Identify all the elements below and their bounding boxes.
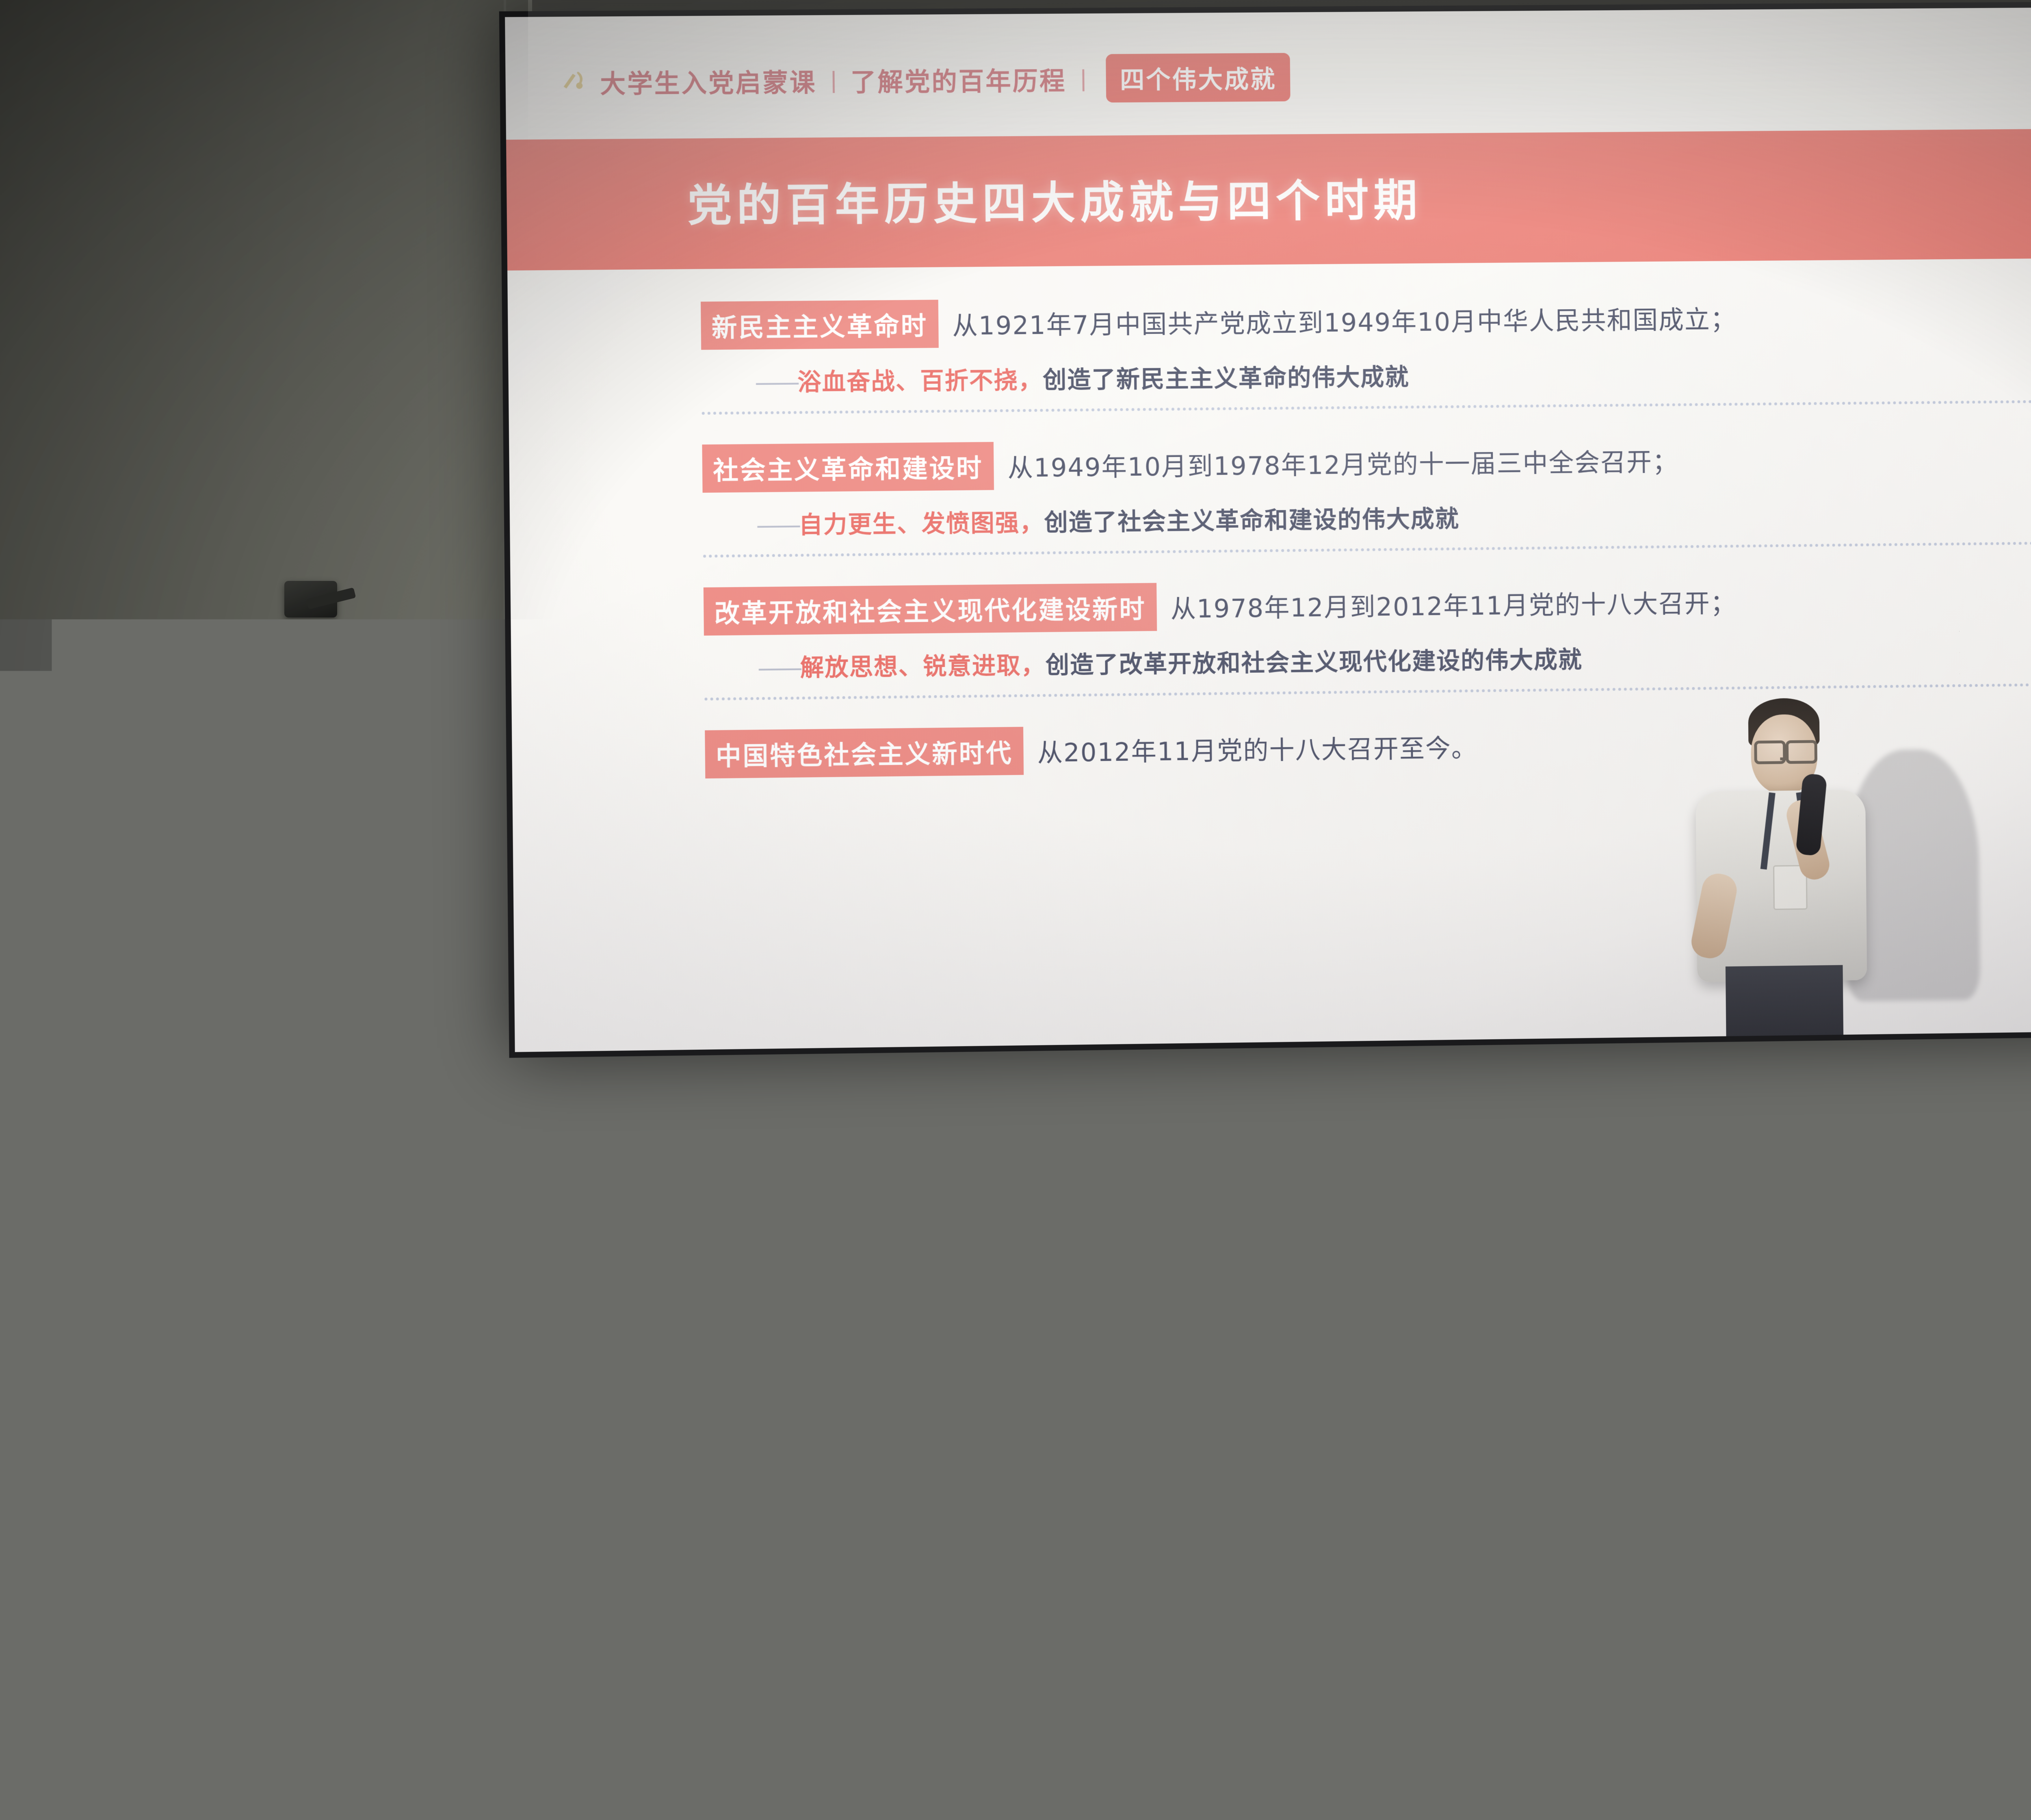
audience-head bbox=[1292, 1345, 1430, 1499]
audience-head bbox=[1649, 1381, 1783, 1532]
audience-desk-row-3 bbox=[1851, 1713, 2031, 1785]
fan-base bbox=[455, 1170, 524, 1184]
lecture-hall-scene: 大学生入党启蒙课 | 了解党的百年历程 | 四个伟大成就 党的百年历史四大成就与… bbox=[0, 0, 2031, 1820]
period-dash-3: —— bbox=[758, 654, 801, 682]
projection-screen: 大学生入党启蒙课 | 了解党的百年历程 | 四个伟大成就 党的百年历史四大成就与… bbox=[499, 0, 2031, 1058]
period-highlight-3: 解放思想、锐意进取， bbox=[800, 651, 1046, 682]
period-tag-1: 新民主主义革命时 bbox=[701, 300, 939, 350]
period-rest-1: 创造了新民主主义革命的伟大成就 bbox=[1043, 363, 1410, 394]
period-range-2: 从1949年10月到1978年12月党的十一届三中全会召开； bbox=[1007, 442, 1678, 484]
fan-pole bbox=[484, 1044, 495, 1174]
breadcrumb-item-2: 了解党的百年历程 bbox=[851, 60, 1067, 98]
period-range-1: 从1921年7月中国共产党成立到1949年10月中华人民共和国成立； bbox=[952, 299, 1737, 342]
audience-head bbox=[154, 1190, 272, 1320]
audience-torso bbox=[154, 1779, 414, 1820]
period-highlight-1: 浴血奋战、百折不挠， bbox=[797, 366, 1043, 396]
audience-head bbox=[589, 1316, 723, 1467]
audience-torso bbox=[0, 1657, 187, 1820]
audience-head bbox=[1434, 1231, 1552, 1365]
audience-head bbox=[617, 1150, 735, 1280]
slide-title: 党的百年历史四大成就与四个时期 bbox=[687, 165, 1423, 234]
audience-head bbox=[1292, 1166, 1410, 1296]
ccp-party-emblem-icon bbox=[559, 67, 589, 97]
presenter bbox=[1670, 697, 1892, 1052]
period-tag-3: 改革开放和社会主义现代化建设新时 bbox=[704, 583, 1157, 636]
eyeglasses-right-icon bbox=[1786, 740, 1817, 764]
audience-head bbox=[248, 1430, 382, 1580]
breadcrumb-item-1: 大学生入党启蒙课 bbox=[600, 62, 817, 100]
audience-torso bbox=[1056, 1548, 1292, 1820]
divider-1 bbox=[702, 399, 2031, 415]
audience-head bbox=[435, 1373, 565, 1519]
period-range-4: 从2012年11月党的十八大召开至今。 bbox=[1037, 728, 1477, 769]
podium-top bbox=[1600, 1125, 2031, 1170]
period-tag-4: 中国特色社会主义新时代 bbox=[705, 727, 1024, 778]
red-tote-bag bbox=[1456, 995, 1570, 1089]
eyeglasses-left-icon bbox=[1754, 740, 1786, 764]
left-loudspeaker bbox=[37, 910, 236, 1162]
desk-object-dark bbox=[1629, 1044, 1698, 1077]
period-dash-2: —— bbox=[756, 511, 799, 539]
audience-head bbox=[24, 1125, 146, 1259]
green-info-poster bbox=[284, 687, 414, 861]
period-range-3: 从1978年12月到2012年11月党的十八大召开； bbox=[1170, 583, 1737, 625]
breadcrumb-separator-2: | bbox=[1080, 65, 1087, 92]
audience-torso bbox=[1470, 1576, 1722, 1820]
audience-head bbox=[934, 1312, 1072, 1467]
poster-emblem-icon bbox=[195, 707, 223, 735]
audience-desk-row-2-front bbox=[1843, 1615, 2031, 1688]
period-rest-3: 创造了改革开放和社会主义现代化建设的伟大成就 bbox=[1046, 646, 1583, 679]
presenter-trousers bbox=[1726, 965, 1844, 1052]
audience-head bbox=[751, 1389, 886, 1540]
fan-head bbox=[439, 947, 548, 1056]
period-highlight-2: 自力更生、发愤图强， bbox=[799, 509, 1044, 539]
audience-head bbox=[959, 1133, 1076, 1263]
screen-pull-cord-grip[interactable] bbox=[1787, 49, 1810, 130]
audience-head bbox=[309, 1150, 422, 1276]
period-block-3: 改革开放和社会主义现代化建设新时 从1978年12月到2012年11月党的十八大… bbox=[511, 571, 2031, 686]
breadcrumb-separator-1: | bbox=[830, 66, 837, 93]
divider-2 bbox=[703, 541, 2031, 558]
period-block-2: 社会主义革命和建设时 从1949年10月到1978年12月党的十一届三中全会召开… bbox=[509, 430, 2031, 543]
pedestal-fan bbox=[439, 947, 552, 1231]
audience-head bbox=[61, 1377, 195, 1527]
period-block-1: 新民主主义革命时 从1921年7月中国共产党成立到1949年10月中华人民共和国… bbox=[508, 288, 2031, 400]
period-dash-1: —— bbox=[755, 368, 798, 396]
slide-title-band: 党的百年历史四大成就与四个时期 bbox=[506, 127, 2031, 270]
header-chip: 四个伟大成就 bbox=[1106, 53, 1290, 102]
audience-head bbox=[1105, 1414, 1243, 1568]
period-rest-2: 创造了社会主义革命和建设的伟大成就 bbox=[1044, 505, 1459, 536]
eyeglasses-bridge-icon bbox=[1780, 757, 1788, 760]
audience-head bbox=[792, 1146, 906, 1272]
desk-papers bbox=[1564, 1032, 1637, 1077]
period-tag-2: 社会主义革命和建设时 bbox=[702, 442, 994, 493]
